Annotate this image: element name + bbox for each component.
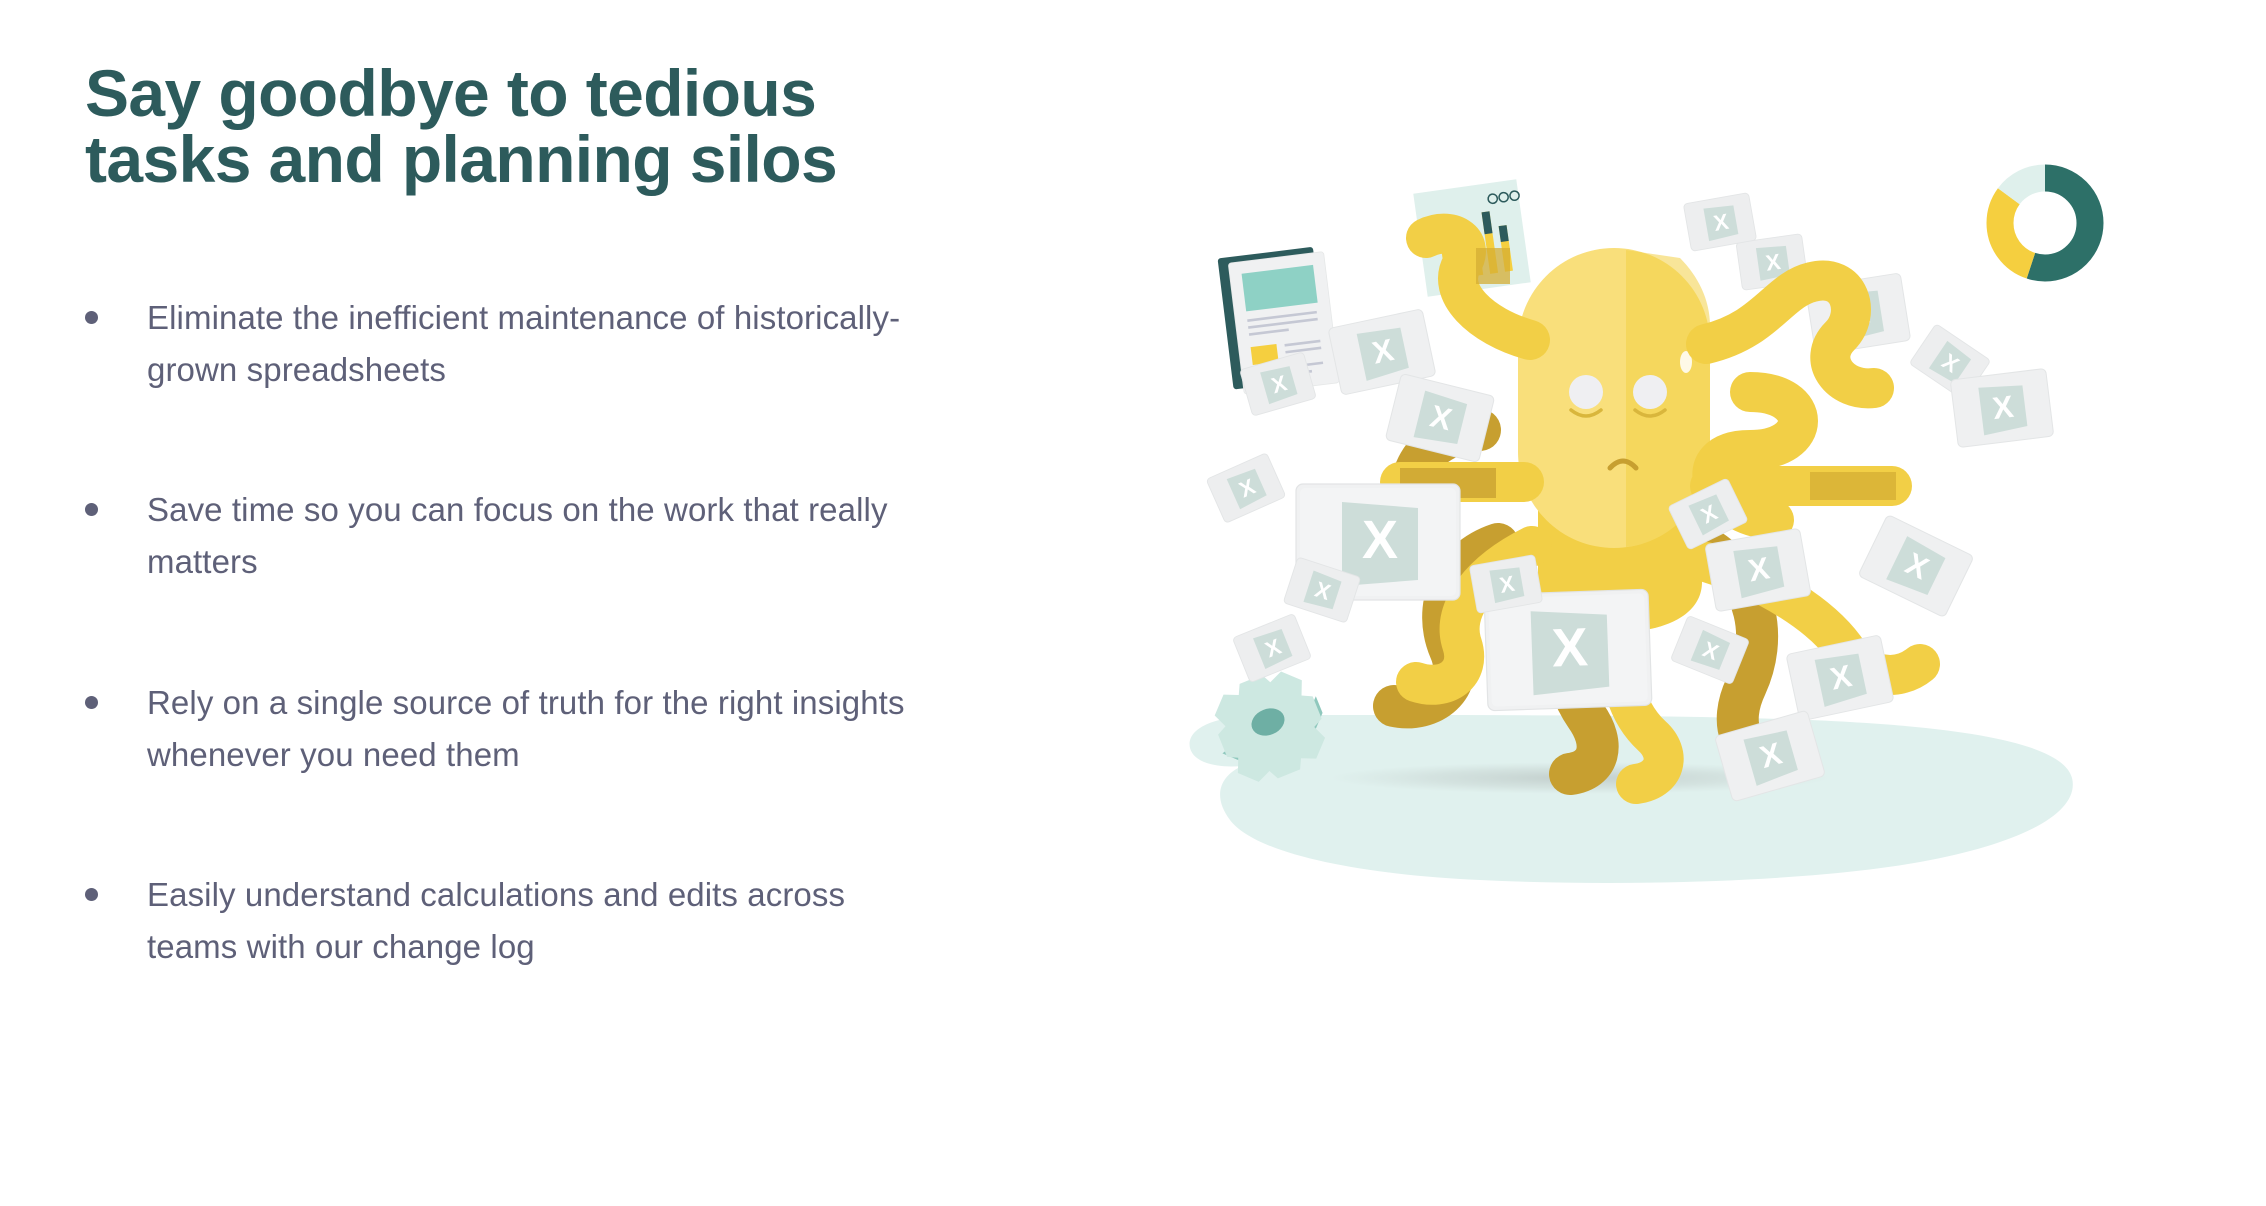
list-item: Easily understand calculations and edits…: [85, 869, 905, 973]
tentacle: [1706, 280, 1874, 388]
page-title: Say goodbye to tedioustasks and planning…: [85, 60, 985, 192]
list-item-label: Eliminate the inefficient maintenance of…: [147, 299, 900, 388]
excel-card: [1858, 514, 1974, 617]
excel-card: [1232, 613, 1311, 682]
excel-card: [1385, 373, 1495, 462]
octopus-eye-right: [1633, 375, 1667, 409]
illustration-svg: X X X: [1150, 130, 2160, 1010]
excel-card: [1786, 635, 1894, 721]
slide-canvas: Say goodbye to tedioustasks and planning…: [0, 0, 2266, 1206]
list-item: Save time so you can focus on the work t…: [85, 484, 905, 588]
list-item-label: Save time so you can focus on the work t…: [147, 491, 888, 580]
title-line-1: Say goodbye to tedious: [85, 56, 816, 130]
octopus-spreadsheets-illustration: X X X: [1150, 130, 2160, 1010]
title-line-2: tasks and planning silos: [85, 122, 837, 196]
excel-card: [1950, 368, 2054, 447]
donut-chart: [2000, 178, 2090, 268]
bullet-dot-icon: [85, 503, 98, 516]
octopus-eye-left: [1569, 375, 1603, 409]
bullet-dot-icon: [85, 696, 98, 709]
list-item: Rely on a single source of truth for the…: [85, 677, 905, 781]
bullet-dot-icon: [85, 311, 98, 324]
benefits-bullet-list: Eliminate the inefficient maintenance of…: [85, 292, 1025, 973]
list-item: Eliminate the inefficient maintenance of…: [85, 292, 905, 396]
bullet-dot-icon: [85, 888, 98, 901]
excel-card: [1206, 453, 1286, 524]
list-item-label: Easily understand calculations and edits…: [147, 876, 845, 965]
text-column: Say goodbye to tedioustasks and planning…: [85, 60, 1025, 973]
octopus-body: [1518, 248, 1710, 632]
list-item-label: Rely on a single source of truth for the…: [147, 684, 905, 773]
